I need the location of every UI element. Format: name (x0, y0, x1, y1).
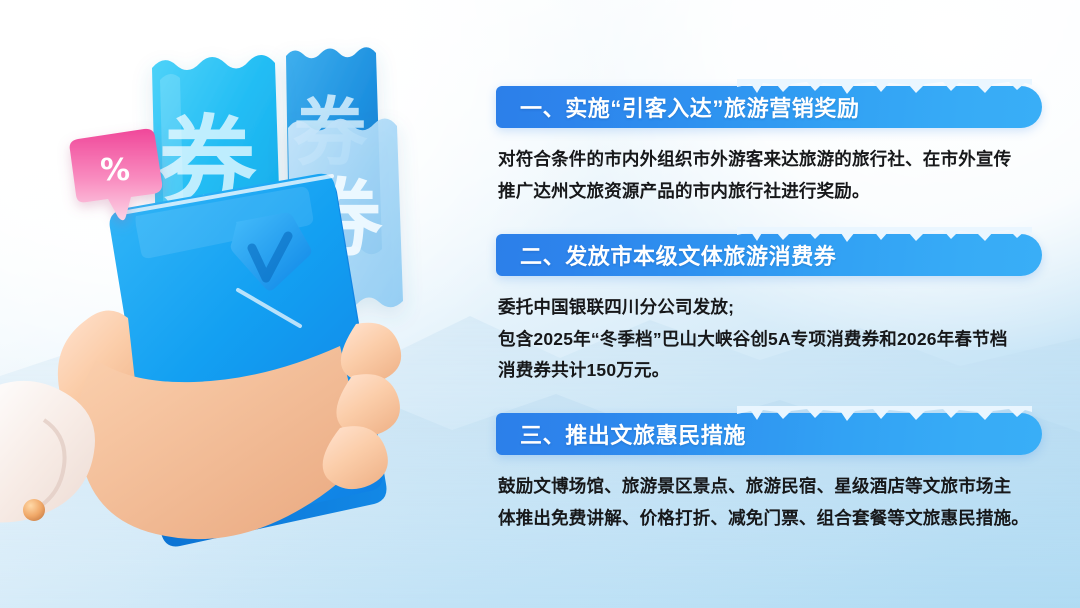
section-2-title: 二、发放市本级文体旅游消费券 (520, 239, 836, 271)
section-3-title: 三、推出文旅惠民措施 (520, 418, 746, 450)
section-1-title: 一、实施“引客入达”旅游营销奖励 (520, 91, 860, 123)
section-1-line-2: 推广达州文旅资源产品的市内旅行社进行奖励。 (498, 176, 1040, 208)
section-3-line-1: 鼓励文博场馆、旅游景区景点、旅游民宿、星级酒店等文旅市场主 (498, 471, 1040, 503)
section-2-body: 委托中国银联四川分公司发放; 包含2025年“冬季档”巴山大峡谷创5A专项消费券… (498, 292, 1040, 388)
svg-text:%: % (100, 153, 130, 188)
poster-root: 券 券 券 (0, 0, 1080, 608)
section-2: 二、发放市本级文体旅游消费券 委托中国银联四川分公司发放; 包含2025年“冬季… (496, 234, 1042, 388)
section-3-body: 鼓励文博场馆、旅游景区景点、旅游民宿、星级酒店等文旅市场主 体推出免费讲解、价格… (498, 471, 1040, 535)
section-1-body: 对符合条件的市内外组织市外游客来达旅游的旅行社、在市外宣传 推广达州文旅资源产品… (498, 144, 1040, 208)
section-3-header-bar: 三、推出文旅惠民措施 (496, 413, 1042, 455)
section-1: 一、实施“引客入达”旅游营销奖励 对符合条件的市内外组织市外游客来达旅游的旅行社… (496, 86, 1042, 208)
section-2-line-2: 包含2025年“冬季档”巴山大峡谷创5A专项消费券和2026年春节档 (498, 324, 1040, 356)
snow-cap-icon (737, 406, 1032, 422)
cuff-button (23, 499, 45, 521)
content-column: 一、实施“引客入达”旅游营销奖励 对符合条件的市内外组织市外游客来达旅游的旅行社… (496, 86, 1042, 535)
section-3-line-2: 体推出免费讲解、价格打折、减免门票、组合套餐等文旅惠民措施。 (498, 503, 1040, 535)
illustration-hand-phone-coupons: 券 券 券 (0, 0, 480, 608)
section-2-line-1: 委托中国银联四川分公司发放; (498, 292, 1040, 324)
section-2-line-3: 消费券共计150万元。 (498, 355, 1040, 387)
section-3: 三、推出文旅惠民措施 鼓励文博场馆、旅游景区景点、旅游民宿、星级酒店等文旅市场主… (496, 413, 1042, 535)
section-2-header-bar: 二、发放市本级文体旅游消费券 (496, 234, 1042, 276)
section-1-header-bar: 一、实施“引客入达”旅游营销奖励 (496, 86, 1042, 128)
section-1-line-1: 对符合条件的市内外组织市外游客来达旅游的旅行社、在市外宣传 (498, 144, 1040, 176)
